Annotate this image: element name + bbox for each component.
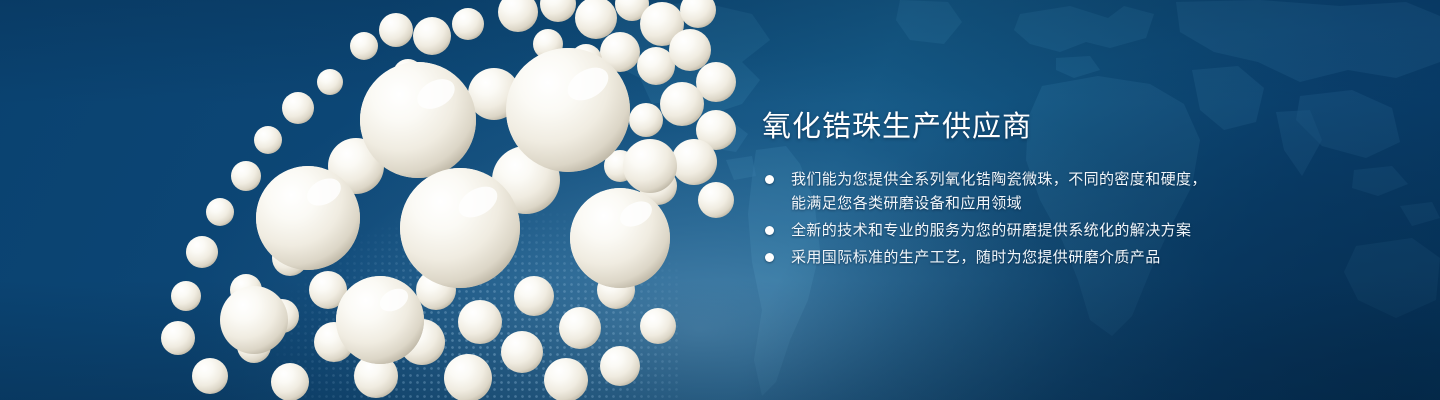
hero-banner: .beads circle { fill: url(#bead); } bbox=[0, 0, 1440, 400]
banner-copy: 氧化锆珠生产供应商 我们能为您提供全系列氧化锆陶瓷微珠，不同的密度和硬度， 能满… bbox=[762, 108, 1322, 270]
bullet-dot-icon bbox=[765, 253, 774, 262]
list-item: 我们能为您提供全系列氧化锆陶瓷微珠，不同的密度和硬度， 能满足您各类研磨设备和应… bbox=[762, 168, 1322, 216]
page-title: 氧化锆珠生产供应商 bbox=[762, 108, 1322, 146]
list-item: 全新的技术和专业的服务为您的研磨提供系统化的解决方案 bbox=[762, 219, 1322, 243]
list-item-line: 能满足您各类研磨设备和应用领域 bbox=[791, 192, 1322, 216]
bullet-dot-icon bbox=[765, 175, 774, 184]
bullet-dot-icon bbox=[765, 226, 774, 235]
list-item-line: 全新的技术和专业的服务为您的研磨提供系统化的解决方案 bbox=[791, 219, 1322, 243]
feature-list: 我们能为您提供全系列氧化锆陶瓷微珠，不同的密度和硬度， 能满足您各类研磨设备和应… bbox=[762, 168, 1322, 270]
list-item-line: 我们能为您提供全系列氧化锆陶瓷微珠，不同的密度和硬度， bbox=[791, 168, 1322, 192]
list-item-line: 采用国际标准的生产工艺，随时为您提供研磨介质产品 bbox=[791, 246, 1322, 270]
list-item: 采用国际标准的生产工艺，随时为您提供研磨介质产品 bbox=[762, 246, 1322, 270]
